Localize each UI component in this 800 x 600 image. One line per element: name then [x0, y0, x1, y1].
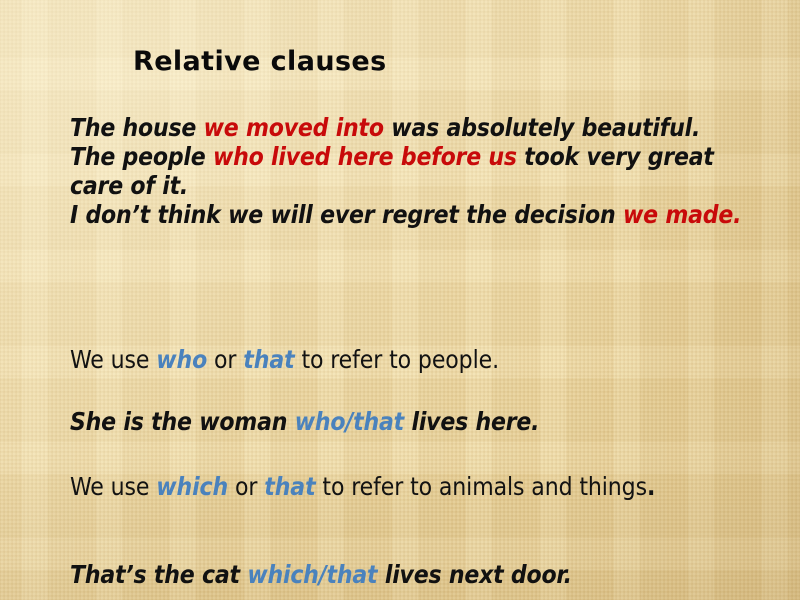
example-woman-text-a: She is the woman: [70, 407, 295, 436]
example-cat-text-a: That’s the cat: [70, 560, 247, 589]
rule-people-keyword-that: that: [243, 345, 294, 374]
example-house-text-a: The house: [70, 113, 204, 142]
example-woman-text-b: lives here.: [404, 407, 539, 436]
rule-people-text-c: to refer to people.: [295, 345, 499, 374]
page-title: Relative clauses: [133, 46, 387, 77]
example-people-text-a: The people: [70, 142, 213, 171]
example-sentence-cat: That’s the cat which/that lives next doo…: [70, 560, 770, 589]
example-woman-keyword: who/that: [295, 407, 404, 436]
example-sentence-house: The house we moved into was absolutely b…: [70, 113, 770, 142]
rule-things-text-b: or: [228, 472, 264, 501]
example-house-text-b: was absolutely beautiful.: [384, 113, 700, 142]
examples-top-block: The house we moved into was absolutely b…: [70, 113, 770, 229]
example-people-relative-clause: who lived here before us: [213, 142, 517, 171]
example-sentence-people: The people who lived here before us took…: [70, 142, 770, 200]
example-decision-text-a: I don’t think we will ever regret the de…: [70, 200, 623, 229]
slide-canvas: Relative clauses The house we moved into…: [0, 0, 800, 600]
rule-people-sentence: We use who or that to refer to people.: [70, 344, 770, 375]
rule-people-text-b: or: [207, 345, 243, 374]
rule-things-text-a: We use: [70, 472, 156, 501]
slide-content: Relative clauses The house we moved into…: [0, 0, 800, 600]
example-sentence-woman: She is the woman who/that lives here.: [70, 407, 770, 436]
example-cat-keyword: which/that: [247, 560, 377, 589]
example-house-relative-clause: we moved into: [204, 113, 384, 142]
rule-things-text-c: to refer to animals and things: [316, 472, 647, 501]
rule-things-keyword-which: which: [156, 472, 228, 501]
example-sentence-decision: I don’t think we will ever regret the de…: [70, 200, 770, 229]
example-cat-text-b: lives next door.: [377, 560, 571, 589]
rule-things-period: .: [647, 472, 655, 501]
rule-people-keyword-who: who: [156, 345, 207, 374]
rule-people-text-a: We use: [70, 345, 156, 374]
rule-things-keyword-that: that: [264, 472, 315, 501]
rule-things-sentence: We use which or that to refer to animals…: [70, 471, 770, 502]
example-decision-relative-clause: we made.: [623, 200, 741, 229]
